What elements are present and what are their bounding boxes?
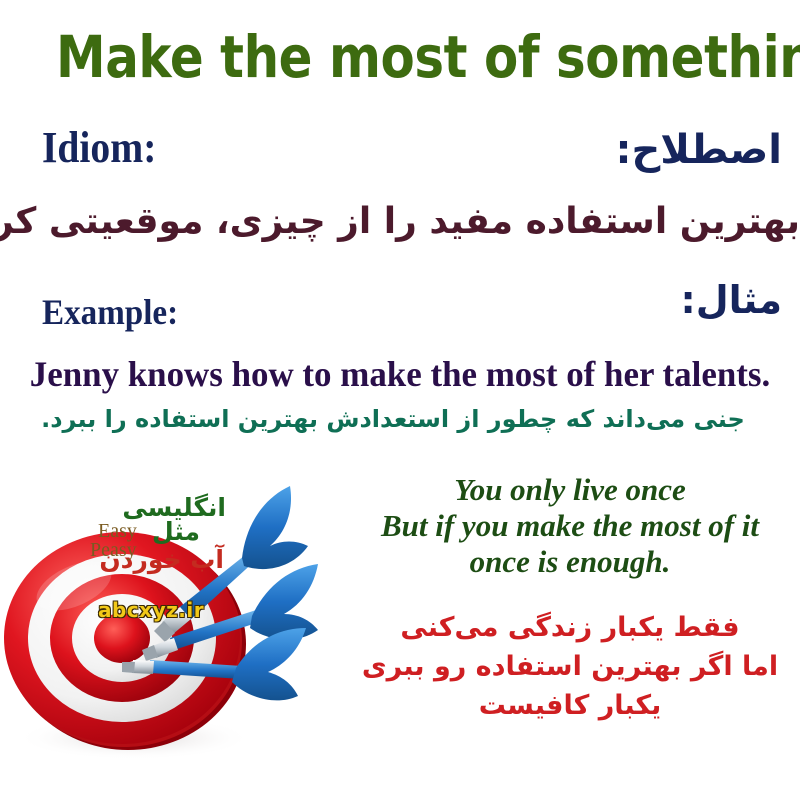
- page-title: Make the most of something: [56, 24, 744, 90]
- example-row: Example: مثال:: [0, 276, 800, 334]
- example-sentence-persian: جنی می‌داند که چطور از استعدادش بهترین ا…: [0, 402, 786, 436]
- quote-persian-line-1: فقط یکبار زندگی می‌کنی: [355, 608, 785, 647]
- idiom-row: Idiom: اصطلاح:: [0, 122, 800, 182]
- quote-persian-line-3: یکبار کافیست: [355, 686, 785, 725]
- logo-english-line-2: Peasy: [90, 541, 137, 560]
- idiom-card: Make the most of something Idiom: اصطلاح…: [0, 0, 800, 800]
- brand-logo: انگلیسی مثل آب خوردن Easy Peasy abcxyz.i…: [96, 494, 226, 604]
- example-sentence-english: Jenny knows how to make the most of her …: [12, 352, 788, 396]
- definition-persian: بهترین استفاده مفید را از چیزی، موقعیتی …: [0, 196, 800, 248]
- quote-english-line-3: once is enough.: [355, 544, 785, 580]
- quote-english: You only live once But if you make the m…: [355, 472, 785, 580]
- quote-persian: فقط یکبار زندگی می‌کنی اما اگر بهترین اس…: [355, 608, 785, 725]
- logo-persian-line-2: مثل: [152, 518, 200, 545]
- example-label-persian: مثال:: [681, 276, 782, 324]
- quote-persian-line-2: اما اگر بهترین استفاده رو ببری: [355, 647, 785, 686]
- quote-english-line-1: You only live once: [355, 472, 785, 508]
- idiom-label-english: Idiom:: [42, 122, 156, 174]
- logo-english: Easy Peasy: [98, 522, 137, 560]
- idiom-label-persian: اصطلاح:: [615, 124, 782, 176]
- site-watermark: abcxyz.ir: [98, 599, 204, 621]
- quote-english-line-2: But if you make the most of it: [355, 508, 785, 544]
- example-label-english: Example:: [42, 290, 178, 334]
